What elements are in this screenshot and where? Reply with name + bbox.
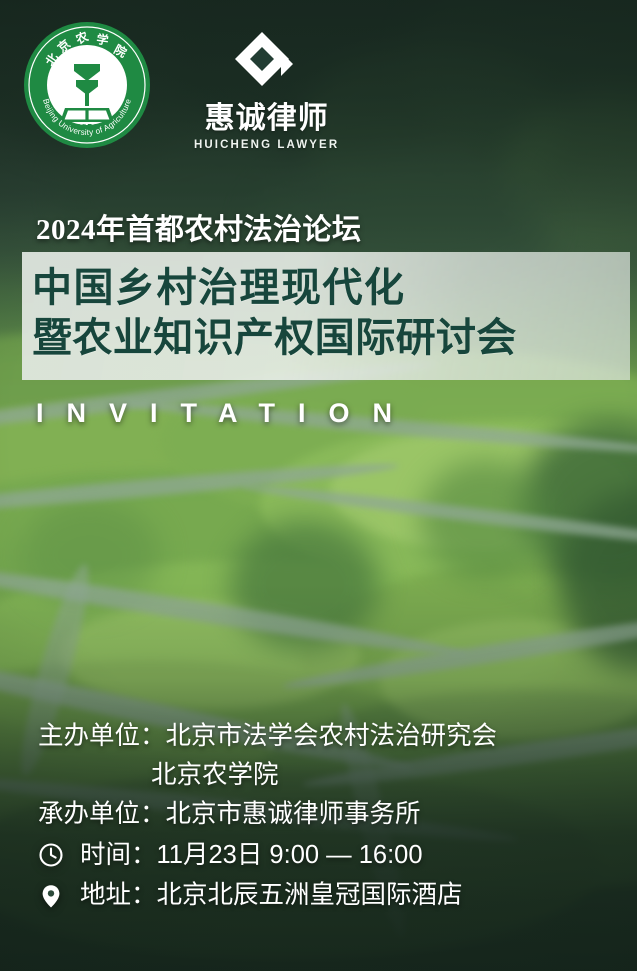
host-value-2: 北京农学院 <box>151 756 279 795</box>
host-line-1: 主办单位： 北京市法学会农村法治研究会 <box>38 717 608 756</box>
title-line-1: 中国乡村治理现代化 <box>32 264 624 314</box>
law-firm-logo: 惠诚律师 HUICHENG LAWYER <box>194 20 339 151</box>
organizer-line: 承办单位： 北京市惠诚律师事务所 <box>38 795 608 834</box>
time-value: 11月23日 9:00 — 16:00 <box>157 836 423 875</box>
time-line: 时间： 11月23日 9:00 — 16:00 <box>38 836 608 875</box>
location-pin-icon <box>38 883 64 909</box>
invitation-word: INVITATION <box>36 398 415 429</box>
diamond-mark-icon <box>231 28 303 100</box>
university-seal-icon: 1956 北 京 农 学 院 Beijing University of Agr… <box>22 20 152 150</box>
address-label: 地址： <box>80 876 157 915</box>
university-logo: 1956 北 京 农 学 院 Beijing University of Agr… <box>22 20 152 150</box>
host-value-1: 北京市法学会农村法治研究会 <box>166 717 498 756</box>
host-line-2: 北京农学院 <box>38 756 608 795</box>
title-line-2: 暨农业知识产权国际研讨会 <box>32 314 624 364</box>
poster-title: 中国乡村治理现代化 暨农业知识产权国际研讨会 <box>32 264 624 363</box>
svg-text:学: 学 <box>96 31 110 48</box>
address-value: 北京北辰五洲皇冠国际酒店 <box>157 876 463 915</box>
law-firm-name-cn: 惠诚律师 <box>205 104 329 134</box>
logo-row: 1956 北 京 农 学 院 Beijing University of Agr… <box>22 20 339 151</box>
organizer-value: 北京市惠诚律师事务所 <box>166 795 421 834</box>
organizer-label: 承办单位： <box>38 795 166 834</box>
law-firm-name-en: HUICHENG LAWYER <box>194 139 339 151</box>
invitation-poster: 1956 北 京 农 学 院 Beijing University of Agr… <box>0 0 637 971</box>
clock-icon <box>38 842 64 868</box>
time-label: 时间： <box>80 836 157 875</box>
poster-kicker: 2024年首都农村法治论坛 <box>36 206 362 248</box>
details-block: 主办单位： 北京市法学会农村法治研究会 北京农学院 承办单位： 北京市惠诚律师事… <box>38 717 608 915</box>
address-line: 地址： 北京北辰五洲皇冠国际酒店 <box>38 876 608 915</box>
host-label: 主办单位： <box>38 717 166 756</box>
